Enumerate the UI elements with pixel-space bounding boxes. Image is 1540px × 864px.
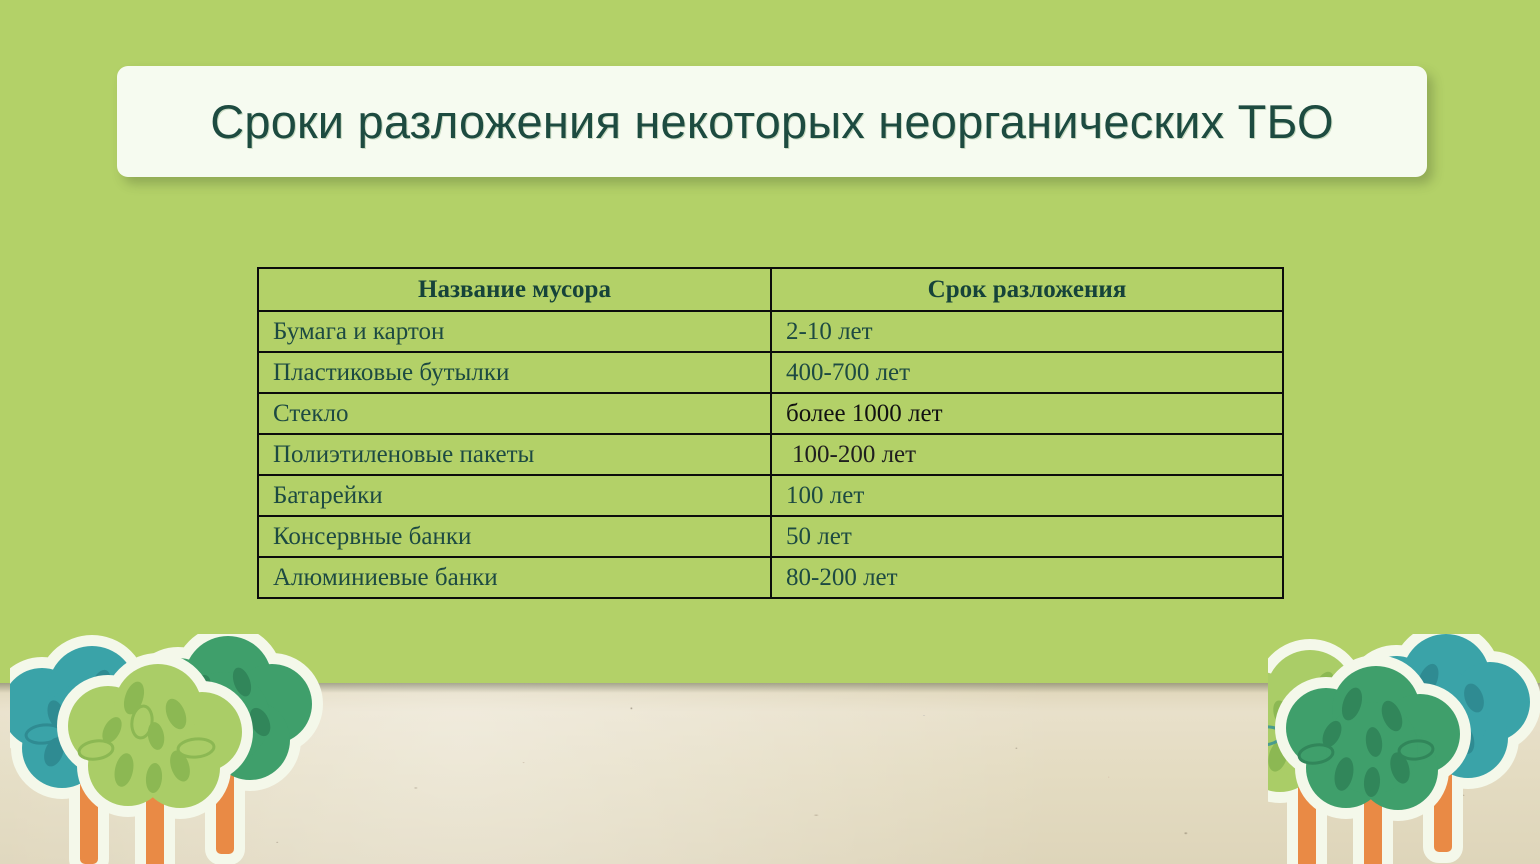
cell-decomposition-term: 400-700 лет — [771, 352, 1283, 393]
table-row: Полиэтиленовые пакеты 100-200 лет — [258, 434, 1283, 475]
cell-decomposition-term: 100-200 лет — [771, 434, 1283, 475]
table-row: Стекло более 1000 лет — [258, 393, 1283, 434]
trees-right-decoration — [1268, 634, 1540, 864]
cell-decomposition-term: 80-200 лет — [771, 557, 1283, 598]
decomposition-table: Название мусора Срок разложения Бумага и… — [257, 267, 1284, 599]
cell-waste-name: Пластиковые бутылки — [258, 352, 771, 393]
trees-left-decoration — [10, 634, 330, 864]
cell-decomposition-term: 2-10 лет — [771, 311, 1283, 352]
three-trees-icon — [10, 634, 330, 864]
cell-decomposition-term: 50 лет — [771, 516, 1283, 557]
table-row: Пластиковые бутылки 400-700 лет — [258, 352, 1283, 393]
slide: Сроки разложения некоторых неорганически… — [0, 0, 1540, 864]
cell-waste-name: Бумага и картон — [258, 311, 771, 352]
table-row: Алюминиевые банки 80-200 лет — [258, 557, 1283, 598]
cell-waste-name: Полиэтиленовые пакеты — [258, 434, 771, 475]
table-row: Консервные банки 50 лет — [258, 516, 1283, 557]
cell-waste-name: Консервные банки — [258, 516, 771, 557]
column-header-term: Срок разложения — [771, 268, 1283, 311]
table-header-row: Название мусора Срок разложения — [258, 268, 1283, 311]
title-card: Сроки разложения некоторых неорганически… — [117, 66, 1427, 177]
cell-waste-name: Батарейки — [258, 475, 771, 516]
cell-decomposition-term: более 1000 лет — [771, 393, 1283, 434]
table-row: Бумага и картон 2-10 лет — [258, 311, 1283, 352]
cell-waste-name: Стекло — [258, 393, 771, 434]
three-trees-icon — [1268, 634, 1540, 864]
page-title: Сроки разложения некоторых неорганически… — [210, 94, 1334, 149]
column-header-name: Название мусора — [258, 268, 771, 311]
cell-decomposition-term: 100 лет — [771, 475, 1283, 516]
table-row: Батарейки 100 лет — [258, 475, 1283, 516]
cell-waste-name: Алюминиевые банки — [258, 557, 771, 598]
